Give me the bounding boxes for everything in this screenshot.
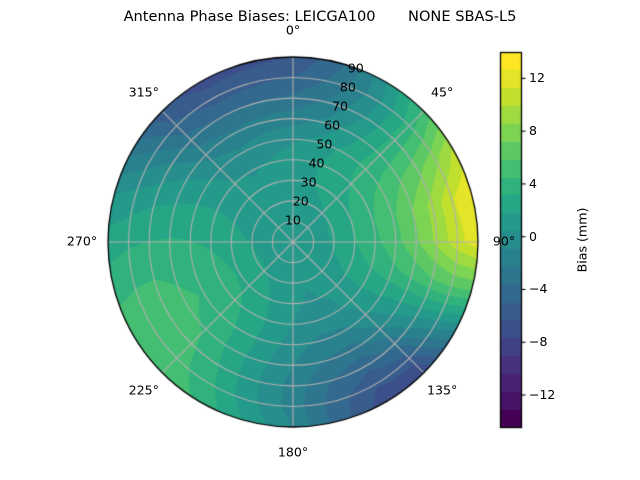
radial-tick-label-30: 30 bbox=[301, 177, 317, 190]
colorbar-axis-label: Bias (mm) bbox=[577, 208, 590, 273]
theta-tick-label-180: 180° bbox=[278, 447, 308, 460]
theta-tick-label-0: 0° bbox=[286, 25, 300, 38]
radial-tick-label-50: 50 bbox=[316, 139, 332, 152]
theta-tick-label-315: 315° bbox=[129, 87, 159, 100]
radial-tick-label-90: 90 bbox=[348, 63, 364, 76]
page-title: Antenna Phase Biases: LEICGA100 NONE SBA… bbox=[0, 8, 640, 25]
radial-tick-label-10: 10 bbox=[285, 215, 301, 228]
figure-canvas-container: Antenna Phase Biases: LEICGA100 NONE SBA… bbox=[0, 0, 640, 480]
radial-tick-label-20: 20 bbox=[293, 196, 309, 209]
colorbar-tick-label-5: 8 bbox=[529, 125, 537, 138]
theta-tick-label-90: 90° bbox=[493, 236, 515, 249]
colorbar-tick-label-2: −4 bbox=[529, 283, 547, 296]
radial-tick-label-70: 70 bbox=[332, 101, 348, 114]
radial-tick-label-60: 60 bbox=[324, 120, 340, 133]
radial-tick-label-80: 80 bbox=[340, 82, 356, 95]
radial-tick-label-40: 40 bbox=[308, 158, 324, 171]
colorbar-tick-label-1: −8 bbox=[529, 336, 547, 349]
theta-tick-label-270: 270° bbox=[67, 236, 97, 249]
theta-tick-label-225: 225° bbox=[129, 385, 159, 398]
colorbar-tick-label-6: 12 bbox=[529, 72, 545, 85]
theta-tick-label-45: 45° bbox=[431, 87, 453, 100]
colorbar-tick-label-3: 0 bbox=[529, 230, 537, 243]
colorbar-tick-label-0: −12 bbox=[529, 389, 555, 402]
colorbar-tick-label-4: 4 bbox=[529, 178, 537, 191]
theta-tick-label-135: 135° bbox=[427, 385, 457, 398]
